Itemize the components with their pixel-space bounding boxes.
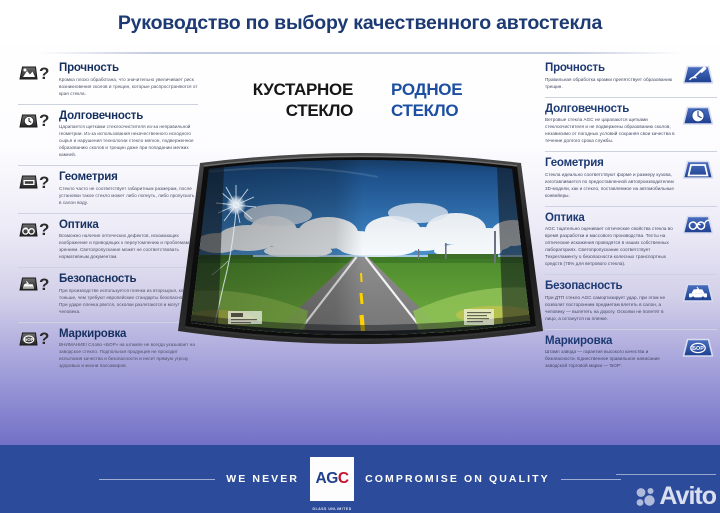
feature-right-marking: Маркировка Штамп завода — гарантия высок… [545,329,717,375]
header-divider [38,52,682,54]
question-mark-icon: ? [39,112,49,129]
feature-right-safety: Безопасность При ДТП стекло AGC самортиз… [545,274,717,327]
hammer-icon [681,63,717,87]
bottom-banner: WE NEVER AGC GLASS UNLIMITED COMPROMISE … [0,445,720,513]
question-mark-icon: ? [39,221,49,238]
banner-text-left: WE NEVER [226,473,299,485]
feature-title: Прочность [545,62,675,75]
feature-title: Прочность [59,62,198,75]
avito-wordmark: Avito [659,484,716,509]
feature-left-safety: ? Безопасность При производстве использу… [18,267,198,320]
marking-icon: БОР [681,336,717,360]
question-mark-icon: ? [39,65,49,82]
feature-body: Правильная обработка кромки препятствует… [545,77,675,91]
agc-logo-tagline: GLASS UNLIMITED [310,507,354,511]
chipped-glass-icon: ? [18,62,54,84]
feature-left-durability: ? Долговечность Царапается щетками стекл… [18,104,198,163]
left-features-column: ? Прочность Кромка плохо обработана, что… [18,62,198,376]
feature-body: При ДТП стекло AGC самортизирует удар, п… [545,295,675,323]
feature-left-geometry: ? Геометрия Стекло часто не соответствуе… [18,165,198,211]
feature-title: Геометрия [545,157,675,170]
question-mark-icon: ? [39,174,49,191]
avito-dots-icon [635,486,657,508]
feature-right-optics: Оптика AGC тщательно оценивает оптически… [545,206,717,272]
windshield-image [178,143,543,365]
banner-rule-right [561,479,621,480]
feature-title: Долговечность [545,103,675,116]
feature-left-marking: БОР ? Маркировка ВНИМАНИЕ! Слово «БОР» н… [18,322,198,375]
glasses-icon [681,213,717,237]
avito-watermark: Avito [635,484,716,509]
center-comparison-labels: КУСТАРНОЕ СТЕКЛО РОДНОЕ СТЕКЛО [195,80,535,138]
svg-text:БОР: БОР [692,345,704,351]
car-crash-icon: ? [18,273,54,295]
marking-icon: БОР ? [18,328,54,350]
feature-title: Оптика [545,212,675,225]
question-mark-icon: ? [39,330,49,347]
clock-icon [681,104,717,128]
watermark-rule [616,474,716,475]
feature-body: Штамп завода — гарантия высокого качеств… [545,349,675,370]
banner-rule-left [99,479,215,480]
feature-title: Долговечность [59,110,198,123]
feature-left-optics: ? Оптика Возможно наличие оптических деф… [18,213,198,266]
label-original-glass: РОДНОЕ СТЕКЛО [391,80,531,121]
feature-body: Стекла идеально соответствуют форме и ра… [545,172,675,200]
clock-icon: ? [18,110,54,132]
feature-right-strength: Прочность Правильная обработка кромки пр… [545,62,717,95]
geometry-icon: ? [18,171,54,193]
label-handmade-glass: КУСТАРНОЕ СТЕКЛО [213,80,353,121]
agc-logo-text: AGC [315,470,348,488]
glasses-icon: ? [18,219,54,241]
feature-body: Кромка плохо обработана, что значительно… [59,77,198,98]
question-mark-icon: ? [39,276,49,293]
geometry-icon [681,158,717,182]
feature-title: Безопасность [545,280,675,293]
poster-root: Руководство по выбору качественного авто… [0,0,720,513]
feature-body: Ветровые стекла AGC не царапаются щеткам… [545,117,675,145]
feature-body: AGC тщательно оценивает оптические свойс… [545,226,675,268]
agc-logo: AGC GLASS UNLIMITED [310,457,354,501]
svg-text:БОР: БОР [24,337,34,342]
right-features-column: Прочность Правильная обработка кромки пр… [545,62,717,376]
banner-text-right: COMPROMISE ON QUALITY [365,473,550,485]
feature-right-durability: Долговечность Ветровые стекла AGC не цар… [545,97,717,150]
poster-header: Руководство по выбору качественного авто… [0,0,720,46]
feature-left-strength: ? Прочность Кромка плохо обработана, что… [18,62,198,102]
page-title: Руководство по выбору качественного авто… [118,12,602,35]
car-crash-icon [681,281,717,305]
feature-right-geometry: Геометрия Стекла идеально соответствуют … [545,151,717,204]
feature-title: Маркировка [545,335,675,348]
